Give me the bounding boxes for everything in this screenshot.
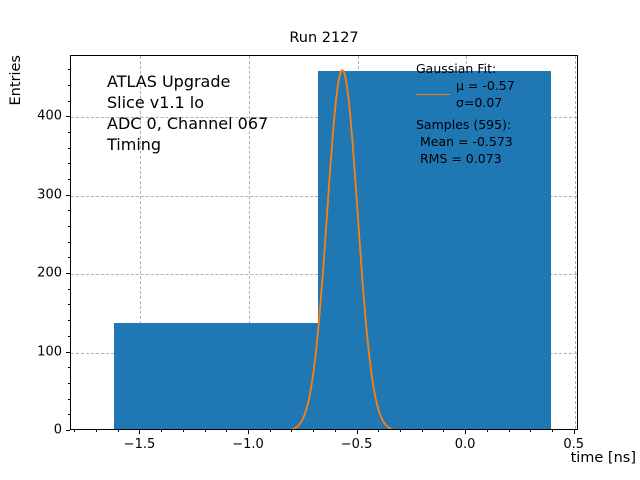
y-axis-minor-tick [68, 210, 70, 211]
y-axis-minor-tick [68, 85, 70, 86]
x-axis-tick [248, 430, 249, 434]
y-axis-minor-tick [68, 320, 70, 321]
legend-line-swatch-icon [416, 94, 450, 95]
y-axis-tick [66, 430, 70, 431]
y-axis-minor-tick [68, 101, 70, 102]
x-axis-minor-tick [74, 430, 75, 432]
x-axis-tick [465, 430, 466, 434]
y-axis-tick-label: 100 [28, 344, 62, 359]
x-axis-minor-tick [96, 430, 97, 432]
legend-sigma-value: σ=0.07 [456, 95, 515, 112]
plot-annotation-text: ATLAS Upgrade Slice v1.1 lo ADC 0, Chann… [107, 71, 268, 155]
y-axis-minor-tick [68, 399, 70, 400]
x-axis-minor-tick [552, 430, 553, 432]
chart-screenshot: Run 2127 ATLAS Upgrade Slice v1.1 lo ADC… [0, 0, 640, 480]
x-axis-minor-tick [509, 430, 510, 432]
x-axis-minor-tick [422, 430, 423, 432]
x-axis-tick-label: −0.5 [341, 437, 373, 452]
chart-title: Run 2127 [70, 30, 578, 46]
y-axis-minor-tick [68, 367, 70, 368]
y-axis-label: Entries [8, 55, 24, 106]
y-axis-minor-tick [68, 289, 70, 290]
y-axis-minor-tick [68, 163, 70, 164]
legend-entry-gaussian-fit: μ = -0.57 σ=0.07 [416, 78, 515, 112]
y-axis-minor-tick [68, 69, 70, 70]
x-axis-tick-label: −1.0 [232, 437, 264, 452]
y-axis-tick-label: 200 [28, 266, 62, 281]
x-axis-tick [574, 430, 575, 434]
y-axis-tick-label: 0 [28, 423, 62, 438]
y-axis-minor-tick [68, 242, 70, 243]
x-axis-minor-tick [205, 430, 206, 432]
x-axis-minor-tick [118, 430, 119, 432]
y-axis-minor-tick [68, 336, 70, 337]
x-axis-minor-tick [313, 430, 314, 432]
y-axis-minor-tick [68, 148, 70, 149]
y-axis-tick-label: 300 [28, 187, 62, 202]
y-axis-minor-tick [68, 179, 70, 180]
x-axis-label: time [ns] [571, 450, 636, 466]
y-axis-tick [66, 116, 70, 117]
x-axis-minor-tick [161, 430, 162, 432]
x-axis-minor-tick [270, 430, 271, 432]
x-axis-minor-tick [530, 430, 531, 432]
y-axis-minor-tick [68, 257, 70, 258]
x-axis-minor-tick [335, 430, 336, 432]
legend-stats-block: Samples (595): Mean = -0.573 RMS = 0.073 [416, 117, 515, 167]
y-axis-minor-tick [68, 414, 70, 415]
x-axis-minor-tick [183, 430, 184, 432]
y-axis-minor-tick [68, 132, 70, 133]
x-axis-tick [139, 430, 140, 434]
x-axis-tick [357, 430, 358, 434]
legend-mu-value: μ = -0.57 [456, 78, 515, 95]
y-axis-tick-label: 400 [28, 109, 62, 124]
y-axis-minor-tick [68, 226, 70, 227]
x-axis-minor-tick [400, 430, 401, 432]
legend-entry-values: μ = -0.57 σ=0.07 [456, 78, 515, 112]
x-axis-minor-tick [378, 430, 379, 432]
x-axis-minor-tick [291, 430, 292, 432]
y-axis-tick [66, 195, 70, 196]
y-axis-minor-tick [68, 383, 70, 384]
x-axis-minor-tick [487, 430, 488, 432]
plot-area: ATLAS Upgrade Slice v1.1 lo ADC 0, Chann… [70, 55, 578, 430]
chart-legend: Gaussian Fit: μ = -0.57 σ=0.07 Samples (… [416, 61, 515, 168]
x-axis-minor-tick [226, 430, 227, 432]
y-axis-minor-tick [68, 304, 70, 305]
x-axis-minor-tick [443, 430, 444, 432]
y-axis-tick [66, 273, 70, 274]
x-axis-tick-label: −1.5 [124, 437, 156, 452]
x-axis-tick-label: 0.0 [455, 437, 476, 452]
legend-title: Gaussian Fit: [416, 61, 515, 78]
y-axis-tick [66, 352, 70, 353]
